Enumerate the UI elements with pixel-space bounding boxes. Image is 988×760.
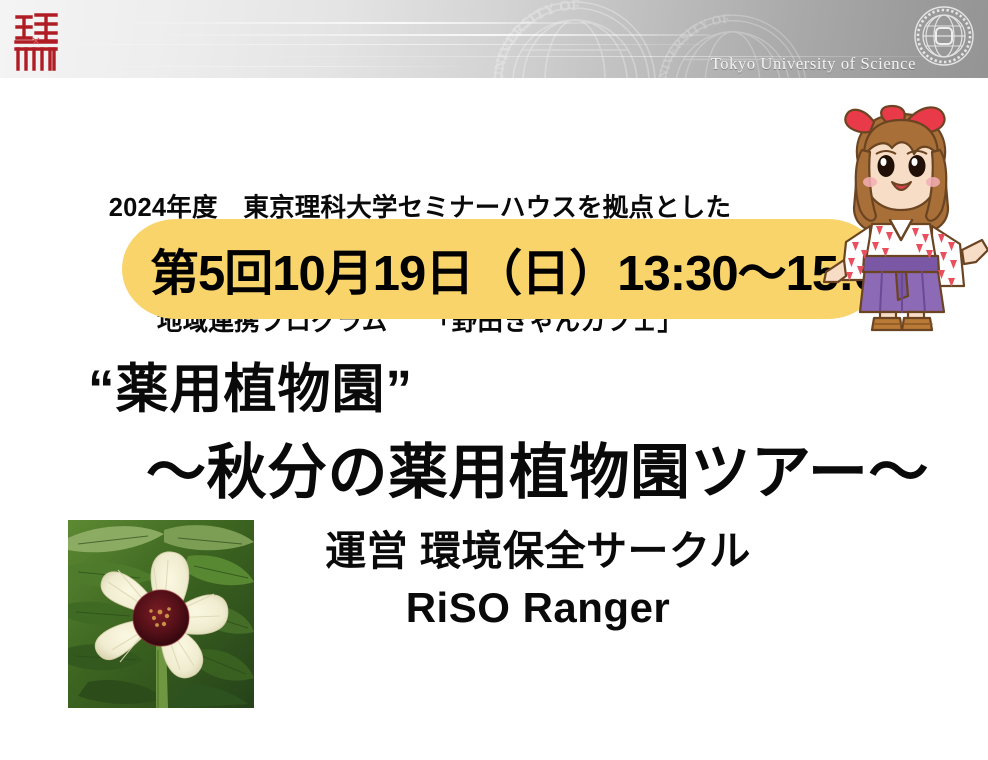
main-title-tour: 〜秋分の薬用植物園ツアー〜 — [146, 424, 929, 511]
flower-photo — [68, 520, 254, 708]
university-wordmark: Tokyo University of Science — [711, 54, 916, 74]
date-banner-text: 第5回10月19日（日）13:30～15:00 — [150, 235, 850, 303]
tus-globe-seal-icon — [914, 6, 974, 71]
globe-watermark-icon: UNIVERSITY OF — [480, 0, 670, 78]
organizer-line-2: RiSO Ranger — [268, 578, 808, 638]
main-title-quoted: “薬用植物園” — [88, 347, 413, 423]
organizer-block: 運営 環境保全サークル RiSO Ranger — [268, 524, 808, 638]
header-streak — [60, 66, 460, 67]
mascot-character-illustration — [812, 100, 988, 332]
organizer-line-1: 運営 環境保全サークル — [268, 524, 808, 578]
rika-red-seal-icon — [10, 8, 62, 77]
svg-text:UNIVERSITY OF: UNIVERSITY OF — [491, 0, 581, 78]
page-header-band: UNIVERSITY OF UNIVERSITY OF — [0, 0, 988, 78]
